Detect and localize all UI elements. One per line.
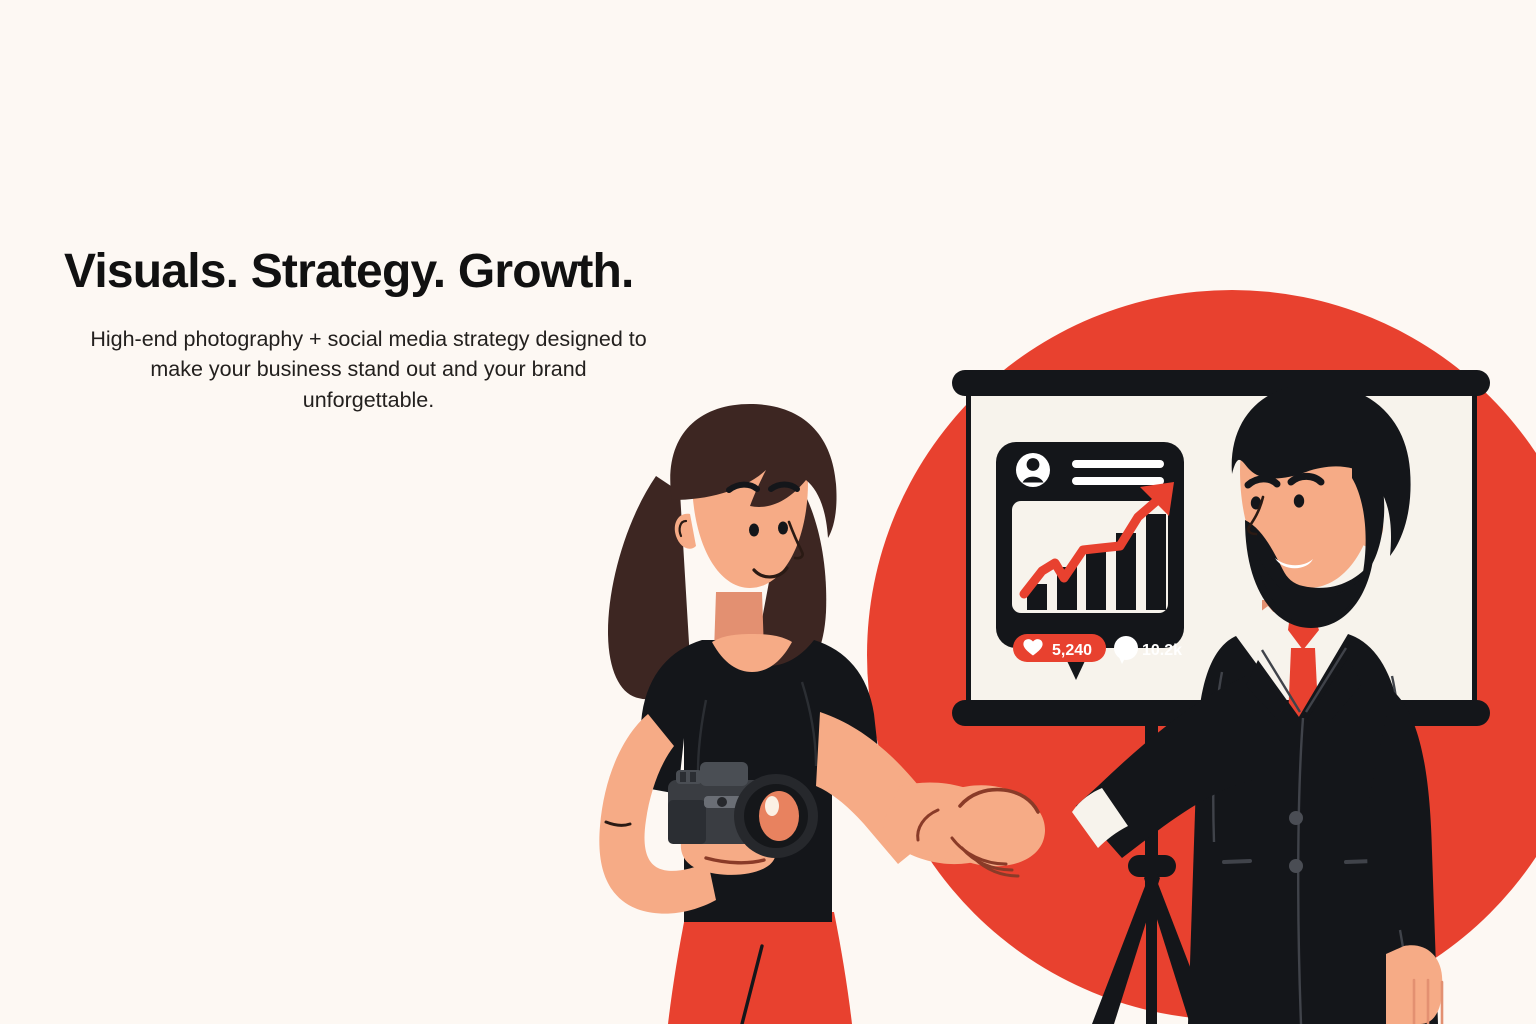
illustration-canvas: 5,240 10.2k <box>0 0 1536 1024</box>
eye-right <box>1294 494 1304 507</box>
social-media-post-card: 5,240 10.2k <box>996 442 1184 680</box>
skirt <box>668 912 852 1024</box>
likes-badge: 5,240 <box>1013 634 1106 662</box>
comments-count: 10.2k <box>1142 642 1182 659</box>
page-subtitle: High-end photography + social media stra… <box>86 324 651 416</box>
avatar-icon <box>1016 453 1050 487</box>
screen-top-bar <box>952 370 1490 396</box>
eye-right <box>778 522 788 535</box>
eye-left <box>749 524 759 537</box>
chart-panel <box>1012 482 1174 613</box>
camera-dial <box>676 770 702 784</box>
hero-copy: Visuals. Strategy. Growth. High-end phot… <box>64 246 704 415</box>
camera-prism <box>700 762 748 786</box>
jacket-button-bottom <box>1289 859 1303 873</box>
likes-count: 5,240 <box>1052 642 1092 659</box>
right-hand <box>1386 945 1442 1024</box>
card-header-line-2 <box>1072 477 1164 485</box>
lens-glint <box>759 791 799 841</box>
card-header-line-1 <box>1072 460 1164 468</box>
page-title: Visuals. Strategy. Growth. <box>64 246 704 298</box>
camera-grip <box>668 800 706 844</box>
comment-icon <box>1114 636 1138 660</box>
jacket-button-top <box>1289 811 1303 825</box>
hero-illustration: 5,240 10.2k <box>0 0 1536 1024</box>
